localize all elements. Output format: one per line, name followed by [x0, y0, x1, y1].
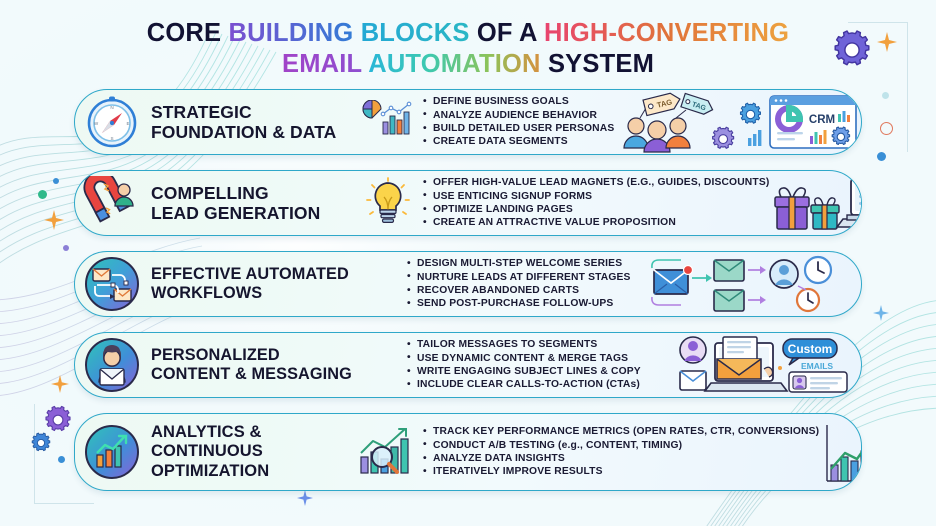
row-heading-line: CONTENT & MESSAGING [151, 365, 357, 384]
list-item: WRITE ENGAGING SUBJECT LINES & COPY [407, 365, 677, 378]
page-title: CORE BUILDING BLOCKS OF A HIGH-CONVERTIN… [0, 18, 936, 80]
row-heading-strategic: STRATEGIC FOUNDATION & DATA [149, 102, 357, 142]
decorative-dot-blue-sm [53, 178, 59, 184]
row-strategic-foundation-data[interactable]: N S E W STRATEGIC FOUNDATION & DATA [74, 89, 862, 155]
row-heading-line: CONTINUOUS [151, 442, 357, 462]
row-bullets-analytics: TRACK KEY PERFORMANCE METRICS (OPEN RATE… [419, 425, 819, 479]
row-heading-line: WORKFLOWS [151, 284, 357, 303]
decorative-dot-purple [63, 245, 69, 251]
gear-icon-blue-left [30, 432, 52, 459]
row-heading-line: PERSONALIZED [151, 346, 357, 365]
svg-text:S: S [110, 136, 113, 141]
row-heading-line: STRATEGIC [151, 102, 357, 122]
compass-icon: N S E W [75, 90, 149, 154]
title-word-building: BUILDING [229, 19, 361, 47]
magnifier-over-chart-icon [357, 414, 419, 490]
decorative-dot-blue-left [58, 456, 65, 463]
list-item: USE ENTICING SIGNUP FORMS [423, 190, 769, 203]
svg-text:N: N [110, 105, 113, 110]
svg-text:W: W [94, 121, 99, 126]
row-compelling-lead-generation[interactable]: COMPELLING LEAD GENERATION [74, 170, 862, 236]
svg-text:EMAILS: EMAILS [801, 361, 833, 371]
list-item: DESIGN MULTI-STEP WELCOME SERIES [407, 257, 650, 270]
svg-text:Custom: Custom [788, 342, 833, 356]
row-heading-line: FOUNDATION & DATA [151, 122, 357, 142]
magnet-with-lead-icon [75, 171, 149, 235]
list-item: BUILD DETAILED USER PERSONAS [423, 122, 614, 135]
title-word-of-a: OF A [477, 19, 544, 47]
title-line-2: EMAIL AUTOMATION SYSTEM [0, 49, 936, 80]
list-item: CREATE DATA SEGMENTS [423, 135, 614, 148]
person-with-envelope-circle-icon [75, 333, 149, 397]
list-item: CONDUCT A/B TESTING (e.g., CONTENT, TIMI… [423, 439, 819, 452]
sparkle-star-icon-left-mid [51, 375, 69, 393]
list-item: INCLUDE CLEAR CALLS-TO-ACTION (CTAs) [407, 378, 677, 391]
row-analytics-continuous-optimization[interactable]: ANALYTICS & CONTINUOUS OPTIMIZATION TRAC… [74, 413, 862, 491]
growth-chart-circle-icon [75, 414, 149, 490]
row-bullets-strategic: DEFINE BUSINESS GOALS ANALYZE AUDIENCE B… [419, 95, 614, 149]
team-analyzing-growth-chart-illustration [819, 414, 862, 490]
custom-emails-laptop-contact-card-illustration: Custom EMAILS [677, 333, 861, 397]
title-line-1: CORE BUILDING BLOCKS OF A HIGH-CONVERTIN… [0, 18, 936, 49]
list-item: DEFINE BUSINESS GOALS [423, 95, 614, 108]
title-word-automation: AUTOMATION [368, 50, 548, 78]
title-word-system: SYSTEM [548, 50, 654, 78]
decorative-dot-green [38, 190, 47, 199]
sparkle-star-icon-left-top [44, 210, 64, 230]
row-bullets-compelling: OFFER HIGH-VALUE LEAD MAGNETS (E.G., GUI… [419, 176, 769, 230]
list-item: SEND POST-PURCHASE FOLLOW-UPS [407, 297, 650, 310]
building-blocks-list: N S E W STRATEGIC FOUNDATION & DATA [74, 89, 862, 506]
audience-tags-gears-crm-dashboard-illustration: TAG TAG [614, 90, 862, 154]
list-item: USE DYNAMIC CONTENT & MERGE TAGS [407, 352, 677, 365]
list-item: TRACK KEY PERFORMANCE METRICS (OPEN RATE… [423, 425, 819, 438]
row-effective-automated-workflows[interactable]: EFFECTIVE AUTOMATED WORKFLOWS DESIGN MUL… [74, 251, 862, 317]
list-item: RECOVER ABANDONED CARTS [407, 284, 650, 297]
decorative-ring-orange [880, 122, 893, 135]
svg-text:CRM: CRM [809, 114, 835, 126]
row-heading-compelling: COMPELLING LEAD GENERATION [149, 183, 357, 223]
title-word-email: EMAIL [282, 50, 368, 78]
list-item: OPTIMIZE LANDING PAGES [423, 203, 769, 216]
sparkle-star-icon-right-mid [873, 305, 889, 321]
email-flow-user-clock-illustration [650, 252, 861, 316]
row-heading-line: COMPELLING [151, 183, 357, 203]
row-heading-personalized: PERSONALIZED CONTENT & MESSAGING [149, 346, 357, 384]
email-workflow-circle-icon [75, 252, 149, 316]
row-bullets-personalized: TAILOR MESSAGES TO SEGMENTS USE DYNAMIC … [357, 338, 677, 392]
svg-text:E: E [126, 121, 129, 126]
title-word-blocks: BLOCKS [361, 19, 477, 47]
list-item: ITERATIVELY IMPROVE RESULTS [423, 465, 819, 478]
row-heading-line: EFFECTIVE AUTOMATED [151, 265, 357, 284]
row-heading-analytics: ANALYTICS & CONTINUOUS OPTIMIZATION [149, 423, 357, 482]
decorative-dot-blue-right [877, 152, 886, 161]
list-item: NURTURE LEADS AT DIFFERENT STAGES [407, 271, 650, 284]
gift-boxes-and-laptop-download-illustration [769, 171, 862, 235]
row-heading-workflows: EFFECTIVE AUTOMATED WORKFLOWS [149, 265, 357, 303]
list-item: TAILOR MESSAGES TO SEGMENTS [407, 338, 677, 351]
pie-and-bar-chart-icon [357, 90, 419, 154]
title-word-high-converting: HIGH-CONVERTING [544, 19, 789, 47]
row-bullets-workflows: DESIGN MULTI-STEP WELCOME SERIES NURTURE… [357, 257, 650, 311]
decorative-dot-teal-faint [882, 92, 889, 99]
row-heading-line: ANALYTICS & [151, 423, 357, 443]
lightbulb-icon [357, 171, 419, 235]
list-item: OFFER HIGH-VALUE LEAD MAGNETS (E.G., GUI… [423, 176, 769, 189]
list-item: ANALYZE AUDIENCE BEHAVIOR [423, 109, 614, 122]
list-item: CREATE AN ATTRACTIVE VALUE PROPOSITION [423, 216, 769, 229]
list-item: ANALYZE DATA INSIGHTS [423, 452, 819, 465]
row-heading-line: OPTIMIZATION [151, 462, 357, 482]
row-personalized-content-messaging[interactable]: PERSONALIZED CONTENT & MESSAGING TAILOR … [74, 332, 862, 398]
row-heading-line: LEAD GENERATION [151, 203, 357, 223]
title-word-core: CORE [147, 19, 229, 47]
